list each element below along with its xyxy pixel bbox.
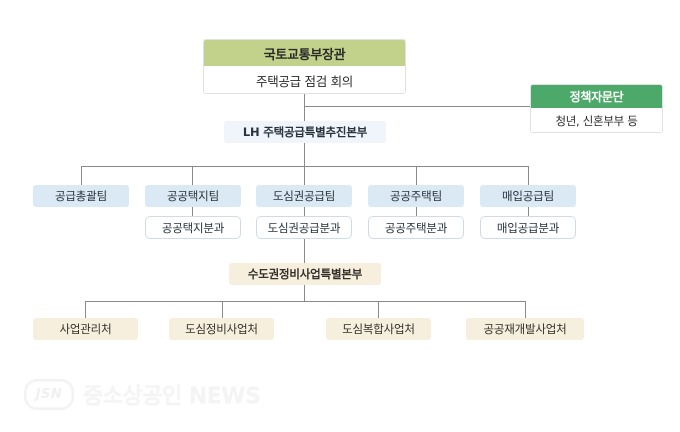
connector-drop-office-1: [85, 301, 86, 318]
watermark: JSN 중소상공인 NEWS: [24, 378, 260, 410]
connector-ministry-to-advisory: [304, 106, 530, 107]
connector-drop-office-3: [378, 301, 379, 318]
team-box-4: 공공주택팀: [368, 185, 464, 207]
connector-metro-trunk: [304, 285, 305, 301]
jsn-logo-icon: JSN: [24, 379, 74, 410]
lh-division-box: LH 주택공급특별추진본부: [224, 121, 386, 143]
advisory-members-label: 청년, 신혼부부 등: [531, 108, 662, 133]
connector-team3-to-sub: [304, 207, 305, 216]
connector-drop-team-1: [81, 166, 82, 185]
team-box-1: 공급총괄팀: [33, 185, 129, 207]
connector-to-metro: [304, 239, 305, 263]
team-box-2: 공공택지팀: [145, 185, 241, 207]
metro-division-box: 수도권정비사업특별본부: [229, 263, 381, 285]
office-box-1: 사업관리처: [33, 318, 138, 340]
connector-drop-team-4: [416, 166, 417, 185]
connector-drop-office-2: [222, 301, 223, 318]
connector-team5-to-sub: [528, 207, 529, 216]
connector-ministry-to-lh: [304, 93, 305, 121]
connector-lh-trunk: [304, 143, 305, 166]
ministry-card: 국토교통부장관 주택공급 점검 회의: [203, 39, 406, 94]
connector-drop-team-5: [528, 166, 529, 185]
watermark-text: 중소상공인 NEWS: [83, 378, 260, 410]
connector-team4-to-sub: [416, 207, 417, 216]
org-chart-canvas: 국토교통부장관 주택공급 점검 회의 정책자문단 청년, 신혼부부 등 LH 주…: [0, 0, 680, 432]
office-box-2: 도심정비사업처: [169, 318, 274, 340]
ministry-meeting-label: 주택공급 점검 회의: [204, 66, 405, 94]
connector-drop-office-4: [525, 301, 526, 318]
connector-team2-to-sub: [192, 207, 193, 216]
team-box-3: 도심권공급팀: [256, 185, 352, 207]
office-box-3: 도심복합사업처: [326, 318, 431, 340]
subteam-box-4: 매입공급분과: [480, 216, 576, 239]
subteam-box-2: 도심권공급분과: [256, 216, 352, 239]
advisory-title: 정책자문단: [531, 85, 662, 108]
ministry-title: 국토교통부장관: [204, 40, 405, 66]
connector-drop-team-2: [192, 166, 193, 185]
office-box-4: 공공재개발사업처: [466, 318, 584, 340]
team-box-5: 매입공급팀: [480, 185, 576, 207]
advisory-card: 정책자문단 청년, 신혼부부 등: [530, 84, 663, 133]
subteam-box-3: 공공주택분과: [368, 216, 464, 239]
subteam-box-1: 공공택지분과: [145, 216, 241, 239]
connector-office-bus: [85, 301, 525, 302]
connector-drop-team-3: [304, 166, 305, 185]
